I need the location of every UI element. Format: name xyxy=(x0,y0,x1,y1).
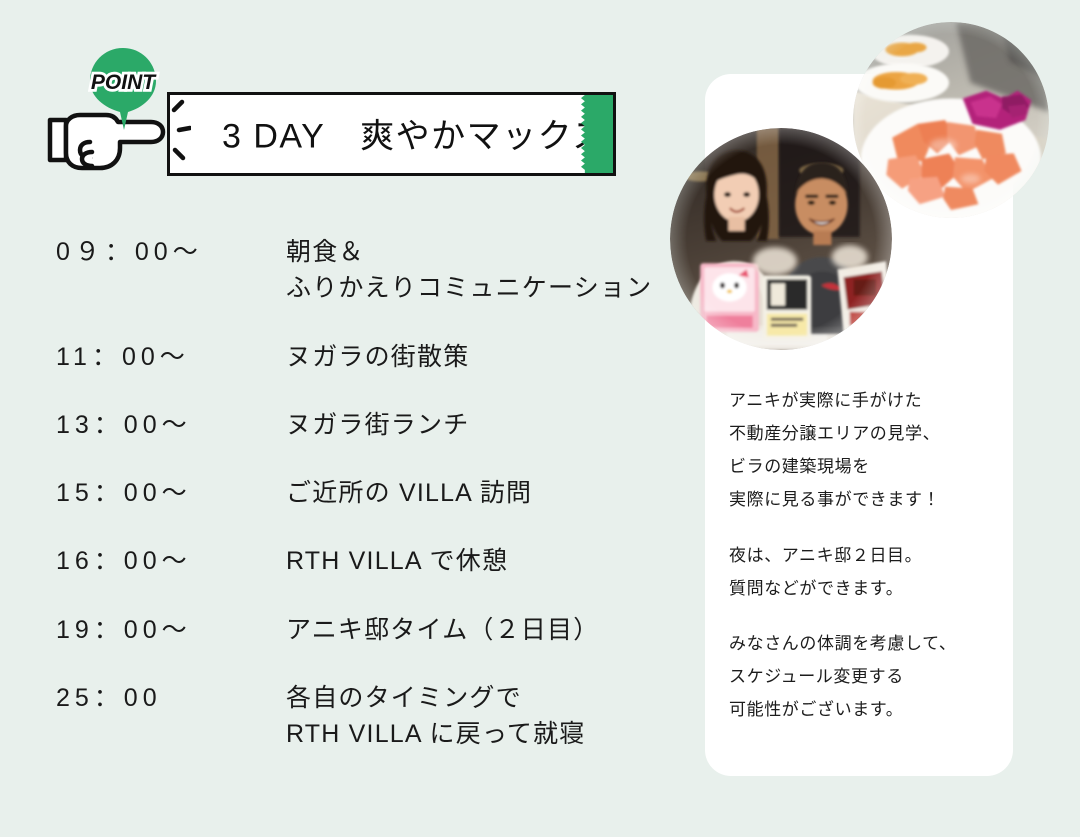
schedule-label-line1: RTH VILLA で休憩 xyxy=(286,547,508,575)
schedule-label: 朝食＆ ふりかえりコミュニケーション xyxy=(286,234,652,307)
schedule-time: 19：00～ xyxy=(56,612,286,648)
copy-line: 不動産分譲エリアの見学、 xyxy=(729,417,997,450)
schedule-time: 11：00～ xyxy=(56,339,286,375)
copy-line: アニキが実際に手がけた xyxy=(729,384,997,417)
food-plate-photo xyxy=(853,22,1049,218)
schedule-label-line1: アニキ邸タイム（２日目） xyxy=(286,616,599,644)
people-photo xyxy=(670,128,892,350)
schedule-time: 15：00～ xyxy=(56,475,286,511)
schedule-label: RTH VILLA で休憩 xyxy=(286,543,508,579)
schedule-row: 25：00 各自のタイミングで RTH VILLA に戻って就寝 xyxy=(56,680,686,753)
schedule-label-line1: 朝食＆ xyxy=(286,238,365,266)
copy-line: 夜は、アニキ邸２日目。 xyxy=(729,539,997,572)
schedule-label-line1: ヌガラ街ランチ xyxy=(286,411,469,439)
schedule-time: 13：00～ xyxy=(56,407,286,443)
point-badge: POINT xyxy=(84,46,162,132)
schedule-label-line1: ご近所の VILLA 訪問 xyxy=(286,479,532,507)
card-copy: アニキが実際に手がけた 不動産分譲エリアの見学、 ビラの建築現場を 実際に見る事… xyxy=(729,384,997,726)
schedule-time: 0９：00～ xyxy=(56,234,286,270)
schedule-label: アニキ邸タイム（２日目） xyxy=(286,612,599,648)
schedule-list: 0９：00～ 朝食＆ ふりかえりコミュニケーション 11：00～ ヌガラの街散策… xyxy=(56,234,686,784)
schedule-row: 16：00～ RTH VILLA で休憩 xyxy=(56,543,686,579)
schedule-label: ヌガラの街散策 xyxy=(286,339,469,375)
schedule-row: 0９：00～ 朝食＆ ふりかえりコミュニケーション xyxy=(56,234,686,307)
schedule-label: 各自のタイミングで RTH VILLA に戻って就寝 xyxy=(286,680,586,753)
header-banner: 3 DAY 爽やかマックス xyxy=(46,46,616,181)
point-badge-label: POINT xyxy=(91,71,157,94)
copy-line: みなさんの体調を考慮して、 xyxy=(729,627,997,660)
zigzag-accent-icon xyxy=(581,95,613,173)
copy-block: みなさんの体調を考慮して、 スケジュール変更する 可能性がございます。 xyxy=(729,627,997,726)
schedule-label-line2: ふりかえりコミュニケーション xyxy=(286,270,652,306)
schedule-row: 19：00～ アニキ邸タイム（２日目） xyxy=(56,612,686,648)
copy-line: 実際に見る事ができます！ xyxy=(729,483,997,516)
copy-block: アニキが実際に手がけた 不動産分譲エリアの見学、 ビラの建築現場を 実際に見る事… xyxy=(729,384,997,517)
schedule-label-line1: 各自のタイミングで xyxy=(286,684,522,712)
schedule-time: 16：00～ xyxy=(56,543,286,579)
copy-line: ビラの建築現場を xyxy=(729,450,997,483)
title-bar: 3 DAY 爽やかマックス xyxy=(167,92,616,176)
copy-line: 可能性がございます。 xyxy=(729,693,997,726)
copy-line: スケジュール変更する xyxy=(729,660,997,693)
schedule-label: ヌガラ街ランチ xyxy=(286,407,469,443)
slide-root: 3 DAY 爽やかマックス xyxy=(0,0,1080,837)
schedule-row: 13：00～ ヌガラ街ランチ xyxy=(56,407,686,443)
schedule-label-line1: ヌガラの街散策 xyxy=(286,343,469,371)
schedule-row: 11：00～ ヌガラの街散策 xyxy=(56,339,686,375)
copy-line: 質問などができます。 xyxy=(729,572,997,605)
schedule-time: 25：00 xyxy=(56,680,286,716)
schedule-row: 15：00～ ご近所の VILLA 訪問 xyxy=(56,475,686,511)
copy-block: 夜は、アニキ邸２日目。 質問などができます。 xyxy=(729,539,997,605)
page-title: 3 DAY 爽やかマックス xyxy=(222,109,608,158)
schedule-label-line2: RTH VILLA に戻って就寝 xyxy=(286,716,586,752)
schedule-label: ご近所の VILLA 訪問 xyxy=(286,475,532,511)
